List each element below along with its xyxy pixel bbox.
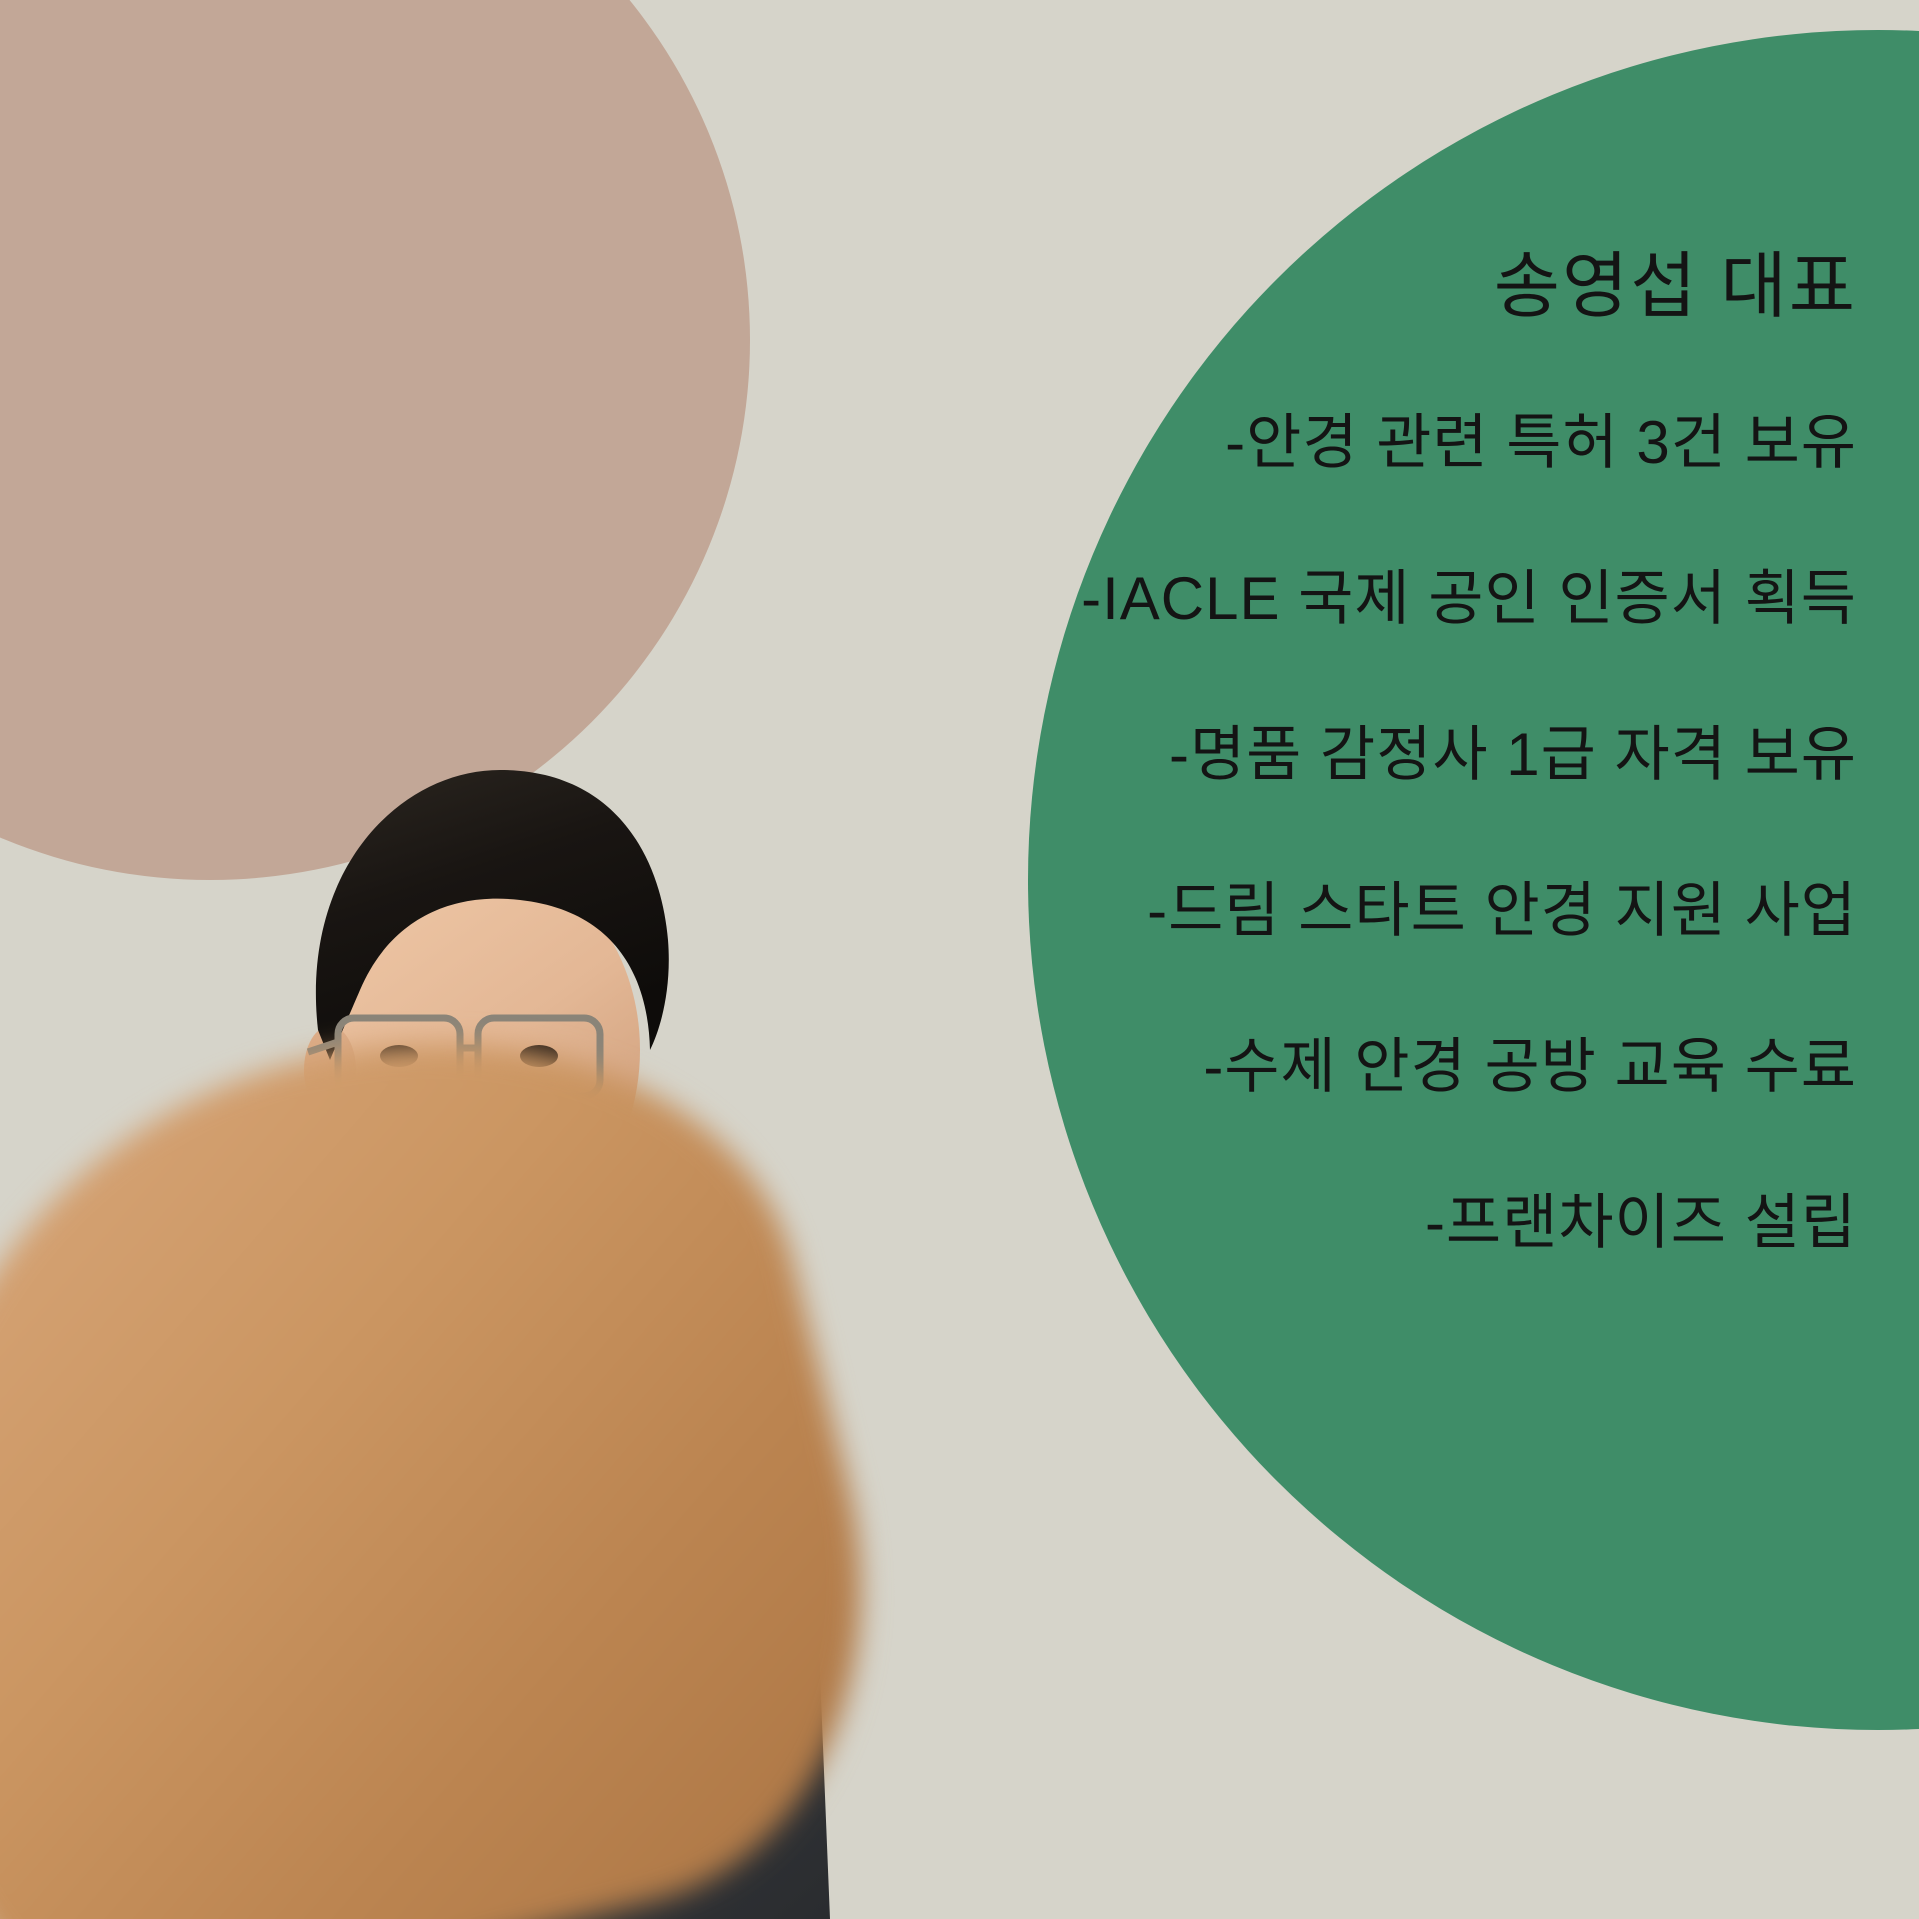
page-title: 송영섭 대표	[837, 246, 1857, 329]
list-item: -드림 스타트 안경 지원 사업	[837, 875, 1857, 947]
poster-canvas: 송영섭 대표 -안경 관련 특허 3건 보유 -IACLE 국제 공인 인증서 …	[0, 0, 1919, 1919]
credentials-list: -안경 관련 특허 3건 보유 -IACLE 국제 공인 인증서 획득 -명품 …	[837, 407, 1857, 1259]
list-item: -프랜차이즈 설립	[837, 1187, 1857, 1259]
list-item: -IACLE 국제 공인 인증서 획득	[837, 563, 1857, 635]
list-item: -안경 관련 특허 3건 보유	[837, 407, 1857, 479]
list-item: -수제 안경 공방 교육 수료	[837, 1031, 1857, 1103]
info-text-column: 송영섭 대표 -안경 관련 특허 3건 보유 -IACLE 국제 공인 인증서 …	[837, 246, 1857, 1259]
list-item: -명품 감정사 1급 자격 보유	[837, 719, 1857, 791]
